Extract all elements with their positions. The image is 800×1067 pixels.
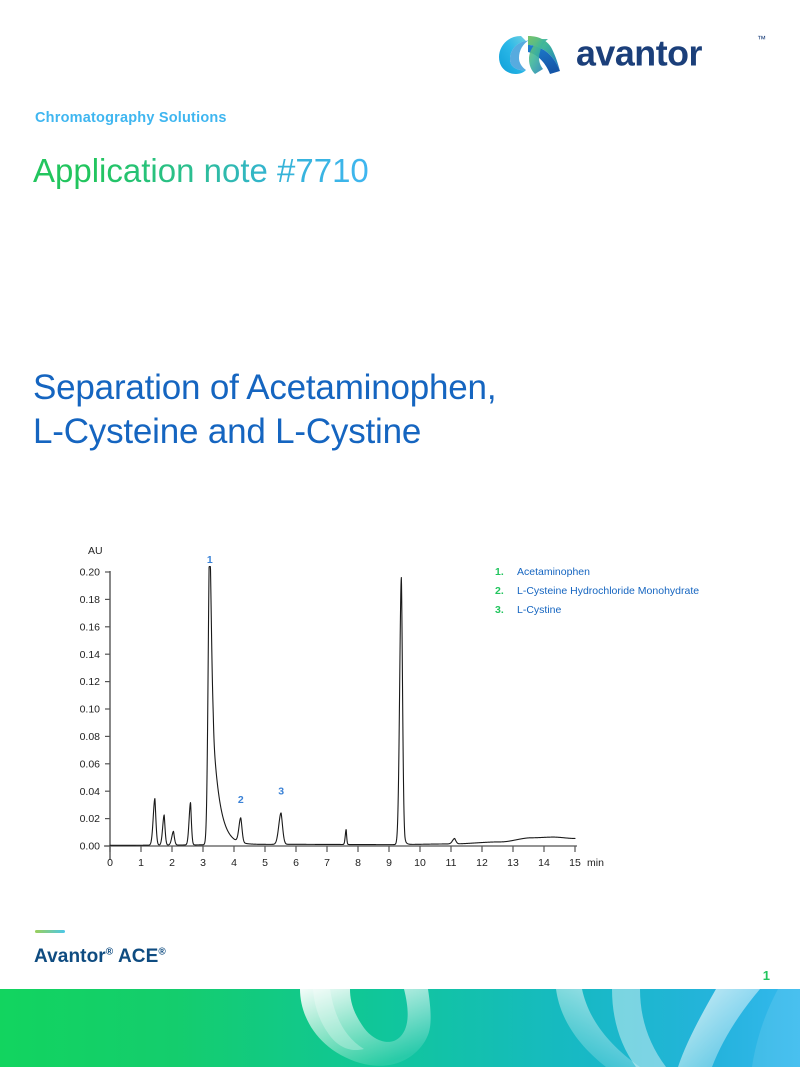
legend-item-number: 1. — [495, 566, 517, 579]
x-axis-tick-label: 6 — [293, 857, 299, 869]
footer-gradient-band — [0, 989, 800, 1067]
avantor-logo: avantor ™ — [498, 28, 766, 80]
legend-item: 2.L-Cysteine Hydrochloride Monohydrate — [495, 585, 785, 598]
footer-brand-sub: ACE — [113, 946, 158, 967]
page-title-line-2: L-Cysteine and L-Cystine — [33, 410, 733, 454]
x-axis-tick-label: 10 — [414, 857, 426, 869]
y-axis-tick-label: 0.10 — [80, 704, 101, 716]
peak-legend: 1.Acetaminophen2.L-Cysteine Hydrochlorid… — [495, 566, 785, 623]
footer-brand: Avantor® ACE® — [34, 946, 166, 968]
page-title-line-1: Separation of Acetaminophen, — [33, 366, 733, 410]
x-axis-tick-label: 15 — [569, 857, 581, 869]
application-note-page: avantor ™ Chromatography Solutions Appli… — [0, 0, 800, 1067]
x-axis-tick-label: 7 — [324, 857, 330, 869]
peak-label: 2 — [238, 794, 244, 806]
x-axis-tick-label: 1 — [138, 857, 144, 869]
y-axis-tick-label: 0.02 — [80, 813, 101, 825]
peak-label: 3 — [278, 786, 284, 798]
svg-text:avantor: avantor — [576, 33, 703, 73]
x-axis-tick-label: 3 — [200, 857, 206, 869]
y-axis-tick-label: 0.00 — [80, 841, 101, 853]
legend-item-number: 3. — [495, 604, 517, 617]
footer-brand-main: Avantor — [34, 946, 106, 967]
x-axis-tick-label: 9 — [386, 857, 392, 869]
x-axis-tick-label: 2 — [169, 857, 175, 869]
legend-item: 1.Acetaminophen — [495, 566, 785, 579]
y-axis-tick-label: 0.04 — [80, 786, 101, 798]
avantor-wordmark: avantor — [576, 31, 755, 77]
footer-band-graphic — [0, 989, 800, 1067]
application-note-number: Application note #7710 — [33, 152, 369, 190]
y-axis-tick-label: 0.14 — [80, 649, 101, 661]
avantor-swoosh-icon — [498, 31, 570, 77]
page-title: Separation of Acetaminophen, L-Cysteine … — [33, 366, 733, 455]
eyebrow-label: Chromatography Solutions — [35, 110, 227, 126]
y-axis-tick-label: 0.16 — [80, 621, 101, 633]
y-axis-tick-label: 0.06 — [80, 758, 101, 770]
trademark-symbol: ™ — [757, 34, 766, 44]
x-axis-tick-label: 4 — [231, 857, 237, 869]
legend-item-number: 2. — [495, 585, 517, 598]
x-axis-title: min — [587, 857, 604, 869]
y-axis-tick-label: 0.18 — [80, 594, 101, 606]
x-axis-tick-label: 11 — [446, 857, 457, 869]
x-axis-tick-label: 13 — [507, 857, 519, 869]
x-axis-tick-label: 5 — [262, 857, 268, 869]
legend-item-label: L-Cystine — [517, 604, 561, 617]
y-axis-title: AU — [88, 545, 103, 557]
legend-item: 3.L-Cystine — [495, 604, 785, 617]
y-axis-tick-label: 0.12 — [80, 676, 101, 688]
y-axis-tick-label: 0.20 — [80, 567, 101, 579]
footer-gradient-rule — [35, 930, 65, 933]
x-axis-tick-label: 8 — [355, 857, 361, 869]
x-axis-tick-label: 14 — [538, 857, 550, 869]
page-number: 1 — [763, 968, 770, 983]
y-axis-tick-label: 0.08 — [80, 731, 101, 743]
legend-item-label: Acetaminophen — [517, 566, 590, 579]
x-axis-tick-label: 0 — [107, 857, 113, 869]
legend-item-label: L-Cysteine Hydrochloride Monohydrate — [517, 585, 699, 598]
x-axis-tick-label: 12 — [476, 857, 488, 869]
footer-registered-2: ® — [158, 947, 165, 958]
peak-label: 1 — [207, 554, 213, 566]
